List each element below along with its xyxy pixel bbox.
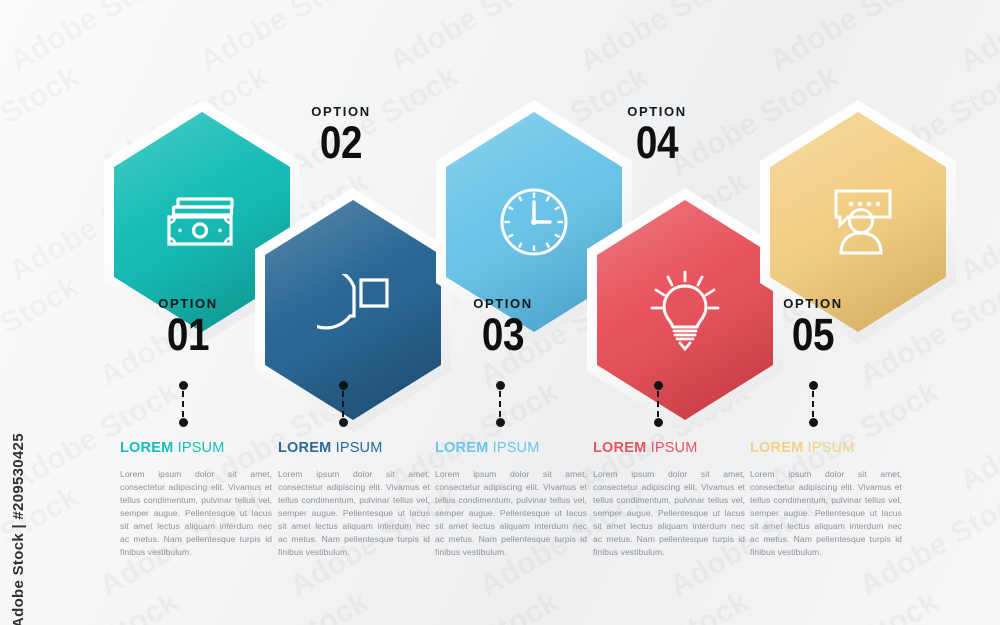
connector-dash <box>499 391 501 417</box>
option-number-1: 01 <box>115 313 261 357</box>
column-heading-bold-1: LOREM <box>120 440 173 456</box>
infographic-canvas: Adobe StockAdobe StockAdobe StockAdobe S… <box>0 0 1000 625</box>
option-number-2: 02 <box>268 121 414 165</box>
text-column-1: LOREM IPSUM Lorem ipsum dolor sit amet, … <box>120 440 272 559</box>
column-body-4: Lorem ipsum dolor sit amet, consectetur … <box>593 468 745 559</box>
text-column-4: LOREM IPSUM Lorem ipsum dolor sit amet, … <box>593 440 745 559</box>
connector-1 <box>178 381 188 427</box>
connector-dash <box>812 391 814 417</box>
option-label-5: OPTION 05 <box>728 296 898 357</box>
connector-dot-bottom <box>654 418 663 427</box>
column-body-2: Lorem ipsum dolor sit amet, consectetur … <box>278 468 430 559</box>
column-heading-1: LOREM IPSUM <box>120 440 272 456</box>
column-heading-light-4: IPSUM <box>646 440 697 456</box>
connector-dot-top <box>339 381 348 390</box>
column-heading-light-2: IPSUM <box>331 440 382 456</box>
connector-dash <box>342 391 344 417</box>
option-label-4: OPTION 04 <box>572 104 742 165</box>
watermark-tile: Adobe Stock <box>574 585 755 625</box>
stock-credit-label: Adobe Stock | #209530425 <box>10 388 27 625</box>
connector-dash <box>182 391 184 417</box>
watermark-tile: Adobe Stock <box>954 585 1000 625</box>
watermark-tile: Adobe Stock <box>384 585 565 625</box>
column-body-1: Lorem ipsum dolor sit amet, consectetur … <box>120 468 272 559</box>
text-column-3: LOREM IPSUM Lorem ipsum dolor sit amet, … <box>435 440 587 559</box>
text-column-5: LOREM IPSUM Lorem ipsum dolor sit amet, … <box>750 440 902 559</box>
column-heading-2: LOREM IPSUM <box>278 440 430 456</box>
connector-4 <box>653 381 663 427</box>
connector-dot-bottom <box>179 418 188 427</box>
connector-dot-bottom <box>809 418 818 427</box>
column-heading-bold-2: LOREM <box>278 440 331 456</box>
column-body-5: Lorem ipsum dolor sit amet, consectetur … <box>750 468 902 559</box>
watermark-tile: Adobe Stock <box>4 585 185 625</box>
option-number-5: 05 <box>740 313 886 357</box>
column-body-3: Lorem ipsum dolor sit amet, consectetur … <box>435 468 587 559</box>
option-number-3: 03 <box>430 313 576 357</box>
column-heading-light-5: IPSUM <box>803 440 854 456</box>
option-number-4: 04 <box>584 121 730 165</box>
connector-dot-bottom <box>496 418 505 427</box>
connector-dot-top <box>496 381 505 390</box>
text-column-2: LOREM IPSUM Lorem ipsum dolor sit amet, … <box>278 440 430 559</box>
option-label-2: OPTION 02 <box>256 104 426 165</box>
connector-dot-top <box>809 381 818 390</box>
connector-dash <box>657 391 659 417</box>
column-heading-bold-4: LOREM <box>593 440 646 456</box>
option-label-1: OPTION 01 <box>103 296 273 357</box>
option-label-3: OPTION 03 <box>418 296 588 357</box>
connector-5 <box>808 381 818 427</box>
column-heading-3: LOREM IPSUM <box>435 440 587 456</box>
column-heading-5: LOREM IPSUM <box>750 440 902 456</box>
connector-3 <box>495 381 505 427</box>
column-heading-bold-5: LOREM <box>750 440 803 456</box>
connector-dot-top <box>654 381 663 390</box>
column-heading-light-3: IPSUM <box>488 440 539 456</box>
watermark-tile: Adobe Stock <box>194 585 375 625</box>
connector-dot-bottom <box>339 418 348 427</box>
column-heading-light-1: IPSUM <box>173 440 224 456</box>
column-heading-bold-3: LOREM <box>435 440 488 456</box>
watermark-tile: Adobe Stock <box>764 585 945 625</box>
connector-dot-top <box>179 381 188 390</box>
column-heading-4: LOREM IPSUM <box>593 440 745 456</box>
connector-2 <box>338 381 348 427</box>
